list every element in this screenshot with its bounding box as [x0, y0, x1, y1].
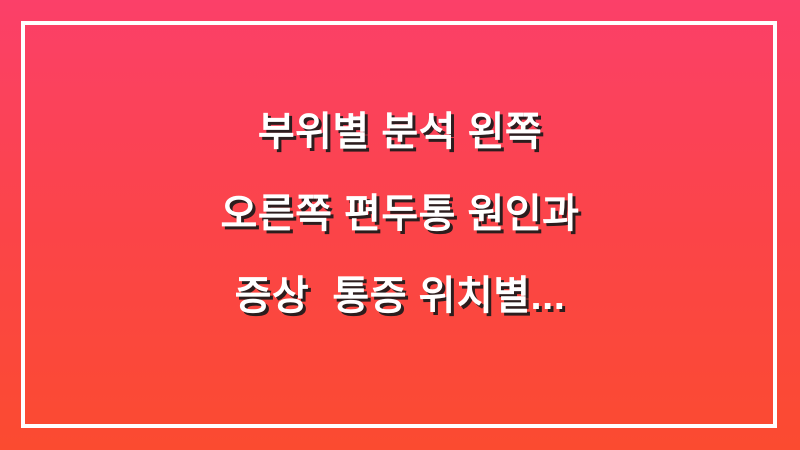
title-line-1: 부위별 분석 왼쪽	[258, 112, 542, 152]
title-line-3: 증상 통증 위치별...	[235, 276, 566, 316]
thumbnail-card: 부위별 분석 왼쪽 오른쪽 편두통 원인과 증상 통증 위치별...	[0, 0, 800, 450]
title-line-2: 오른쪽 편두통 원인과	[221, 194, 580, 234]
title-block: 부위별 분석 왼쪽 오른쪽 편두통 원인과 증상 통증 위치별...	[0, 0, 800, 450]
